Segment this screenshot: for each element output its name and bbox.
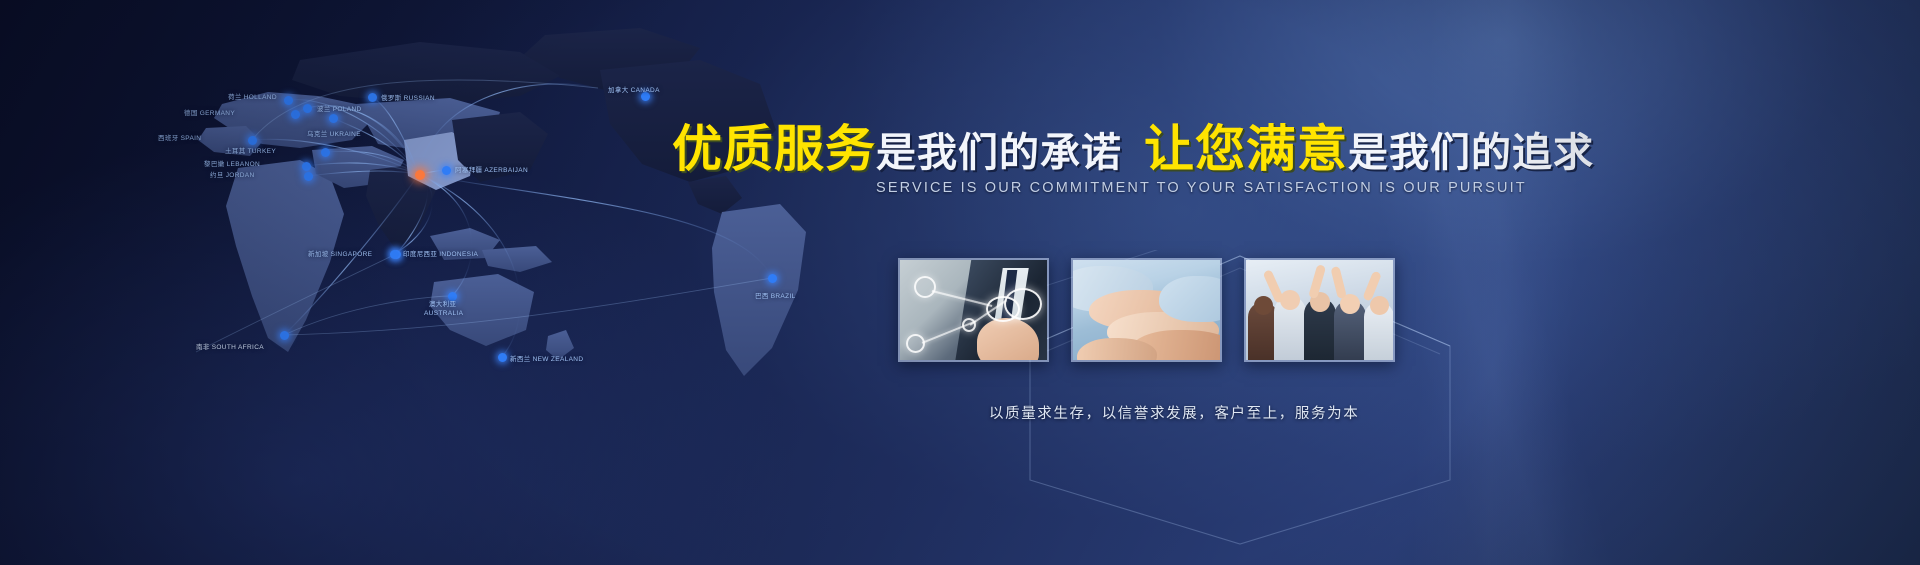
map-node-jordan xyxy=(304,172,313,181)
map-node-poland xyxy=(303,104,312,113)
photo-hands-together xyxy=(1071,258,1222,362)
map-label-brazil: 巴西BRAZIL xyxy=(755,290,796,300)
page-subtitle: SERVICE IS OUR COMMITMENT TO YOUR SATISF… xyxy=(876,180,1527,196)
network-node-1 xyxy=(914,276,936,298)
map-node-china xyxy=(415,170,425,180)
map-node-azerbaijan xyxy=(442,166,451,175)
map-node-brazil xyxy=(768,274,777,283)
map-label-germany: 德国GERMANY xyxy=(184,107,235,117)
map-label-indonesia: 印度尼西亚INDONESIA xyxy=(403,248,478,258)
map-label-spain: 西班牙SPAIN xyxy=(158,132,201,142)
headline-segment-4: 是我们的追求 xyxy=(1348,131,1594,175)
person-1-head xyxy=(1254,296,1273,315)
map-label-poland: 波兰POLAND xyxy=(317,103,362,113)
photo-hands-image xyxy=(1073,260,1220,360)
photo-cloud-network xyxy=(898,258,1049,362)
bottom-tagline: 以质量求生存，以信誉求发展，客户至上，服务为本 xyxy=(989,402,1359,423)
map-label-holland: 荷兰HOLLAND xyxy=(228,91,277,101)
person-2-head xyxy=(1280,290,1300,310)
map-label-australia: 澳大利亚AUSTRALIA xyxy=(424,300,463,319)
hand-layer-6 xyxy=(1077,338,1157,362)
map-label-turkey: 土耳其TURKEY xyxy=(225,145,276,155)
landmass-central-america xyxy=(688,176,742,214)
map-label-lebanon: 黎巴嫩LEBANON xyxy=(204,158,260,168)
map-label-ukraine: 乌克兰UKRAINE xyxy=(307,128,361,138)
photo-cloud-network-image xyxy=(900,260,1047,360)
raised-arm-3 xyxy=(1330,266,1346,299)
map-node-south-africa xyxy=(280,331,289,340)
map-label-singapore: 新加坡SINGAPORE xyxy=(308,248,372,258)
map-label-russian: 俄罗斯RUSSIAN xyxy=(381,92,435,102)
hand-layer-5 xyxy=(1159,276,1222,322)
map-label-south-africa: 南非SOUTH AFRICA xyxy=(196,341,264,351)
page-title: 优质服务是我们的承诺让您满意是我们的追求 xyxy=(672,124,1594,174)
world-map: 荷兰HOLLAND 德国GERMANY 波兰POLAND 俄罗斯RUSSIAN … xyxy=(0,0,1050,565)
map-label-jordan: 约旦JORDAN xyxy=(210,169,255,179)
light-sweep-lower xyxy=(1000,180,1920,565)
service-banner: 荷兰HOLLAND 德国GERMANY 波兰POLAND 俄罗斯RUSSIAN … xyxy=(0,0,1920,565)
map-label-new-zealand: 新西兰NEW ZEALAND xyxy=(510,353,583,363)
map-node-germany xyxy=(291,110,300,119)
map-node-holland xyxy=(284,96,293,105)
map-label-azerbaijan: 阿塞拜疆AZERBAIJAN xyxy=(455,164,528,174)
map-node-turkey xyxy=(321,148,330,157)
headline-segment-1: 优质服务 xyxy=(672,121,876,177)
photo-team-highfive xyxy=(1244,258,1395,362)
map-node-russian xyxy=(368,93,377,102)
person-5-head xyxy=(1370,296,1389,315)
map-node-lebanon xyxy=(302,162,311,171)
cloud-icon xyxy=(984,286,1040,316)
map-label-canada: 加拿大CANADA xyxy=(608,84,660,94)
headline-segment-3: 让您满意 xyxy=(1144,121,1348,177)
map-node-indonesia xyxy=(390,250,399,259)
photo-team-image xyxy=(1246,260,1393,360)
map-node-ukraine xyxy=(329,114,338,123)
landmass-sea-islands-2 xyxy=(482,246,552,272)
photo-strip xyxy=(898,258,1395,362)
map-node-spain xyxy=(248,136,257,145)
headline-segment-2: 是我们的承诺 xyxy=(876,131,1122,175)
map-node-new-zealand xyxy=(498,353,507,362)
